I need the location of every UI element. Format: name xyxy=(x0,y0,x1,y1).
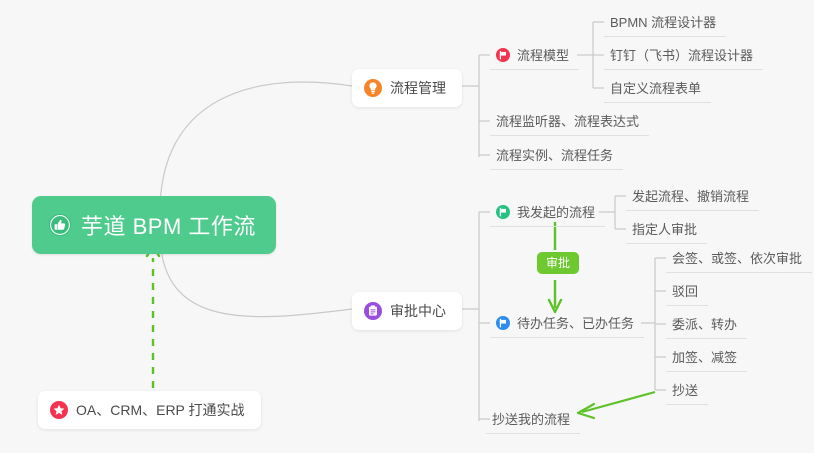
leaf-node-carbon-copy[interactable]: 抄送 xyxy=(666,377,708,405)
annotation-chip-approval: 审批 xyxy=(537,252,579,274)
leaf-label: 待办任务、已办任务 xyxy=(517,313,634,332)
leaf-label: 发起流程、撤销流程 xyxy=(632,186,749,205)
leaf-label: 驳回 xyxy=(672,281,698,300)
root-node[interactable]: 芋道 BPM 工作流 xyxy=(32,196,276,254)
cc-flow-arrow xyxy=(578,392,655,418)
leaf-label: 抄送 xyxy=(672,380,698,399)
leaf-label: 流程监听器、流程表达式 xyxy=(496,111,639,130)
flag-icon xyxy=(496,205,510,219)
leaf-label: 流程实例、流程任务 xyxy=(496,145,613,164)
leaf-node-my-started-processes[interactable]: 我发起的流程 xyxy=(490,199,605,227)
leaf-node-custom-form[interactable]: 自定义流程表单 xyxy=(604,75,711,103)
lightbulb-icon xyxy=(364,79,382,97)
leaf-label: 委派、转办 xyxy=(672,314,737,333)
dashed-green-arrow xyxy=(147,246,159,388)
leaf-label: 自定义流程表单 xyxy=(610,78,701,97)
branch-label: 审批中心 xyxy=(390,301,446,321)
chip-label: 审批 xyxy=(546,256,570,270)
leaf-label: 钉钉（飞书）流程设计器 xyxy=(610,45,753,64)
clipboard-icon xyxy=(364,302,382,320)
leaf-label: 指定人审批 xyxy=(632,219,697,238)
leaf-node-reject[interactable]: 驳回 xyxy=(666,278,708,306)
leaf-label: 会签、或签、依次审批 xyxy=(672,248,802,267)
branch-label: 流程管理 xyxy=(390,78,446,98)
leaf-node-multi-approval[interactable]: 会签、或签、依次审批 xyxy=(666,245,812,273)
flag-icon xyxy=(496,48,510,62)
leaf-node-process-model[interactable]: 流程模型 xyxy=(490,42,579,70)
thumbs-up-icon xyxy=(48,213,72,237)
leaf-node-add-remove-sign[interactable]: 加签、减签 xyxy=(666,344,747,372)
leaf-node-bpmn-designer[interactable]: BPMN 流程设计器 xyxy=(604,9,726,37)
leaf-label: 我发起的流程 xyxy=(517,202,595,221)
leaf-label: BPMN 流程设计器 xyxy=(610,12,716,31)
leaf-node-instance-task[interactable]: 流程实例、流程任务 xyxy=(490,142,623,170)
leaf-node-dingtalk-designer[interactable]: 钉钉（飞书）流程设计器 xyxy=(604,42,763,70)
leaf-node-assignee-approval[interactable]: 指定人审批 xyxy=(626,216,707,244)
leaf-label: 流程模型 xyxy=(517,45,569,64)
star-icon xyxy=(50,401,68,419)
leaf-label: 加签、减签 xyxy=(672,347,737,366)
leaf-node-delegate-transfer[interactable]: 委派、转办 xyxy=(666,311,747,339)
bottom-node-integration[interactable]: OA、CRM、ERP 打通实战 xyxy=(38,391,261,429)
leaf-label: 抄送我的流程 xyxy=(492,409,570,428)
branch-node-approval-center[interactable]: 审批中心 xyxy=(352,292,462,330)
leaf-node-start-cancel-process[interactable]: 发起流程、撤销流程 xyxy=(626,183,759,211)
flag-icon xyxy=(496,316,510,330)
bottom-node-label: OA、CRM、ERP 打通实战 xyxy=(76,400,245,420)
mindmap-canvas: 芋道 BPM 工作流 流程管理 流程模型 BPMN 流程设计器 钉钉（飞书）流程 xyxy=(0,0,814,453)
branch-node-process-management[interactable]: 流程管理 xyxy=(352,69,462,107)
root-label: 芋道 BPM 工作流 xyxy=(81,209,256,241)
leaf-node-listener-expression[interactable]: 流程监听器、流程表达式 xyxy=(490,108,649,136)
leaf-node-todo-done-tasks[interactable]: 待办任务、已办任务 xyxy=(490,310,644,338)
leaf-node-cc-to-me[interactable]: 抄送我的流程 xyxy=(486,406,580,434)
